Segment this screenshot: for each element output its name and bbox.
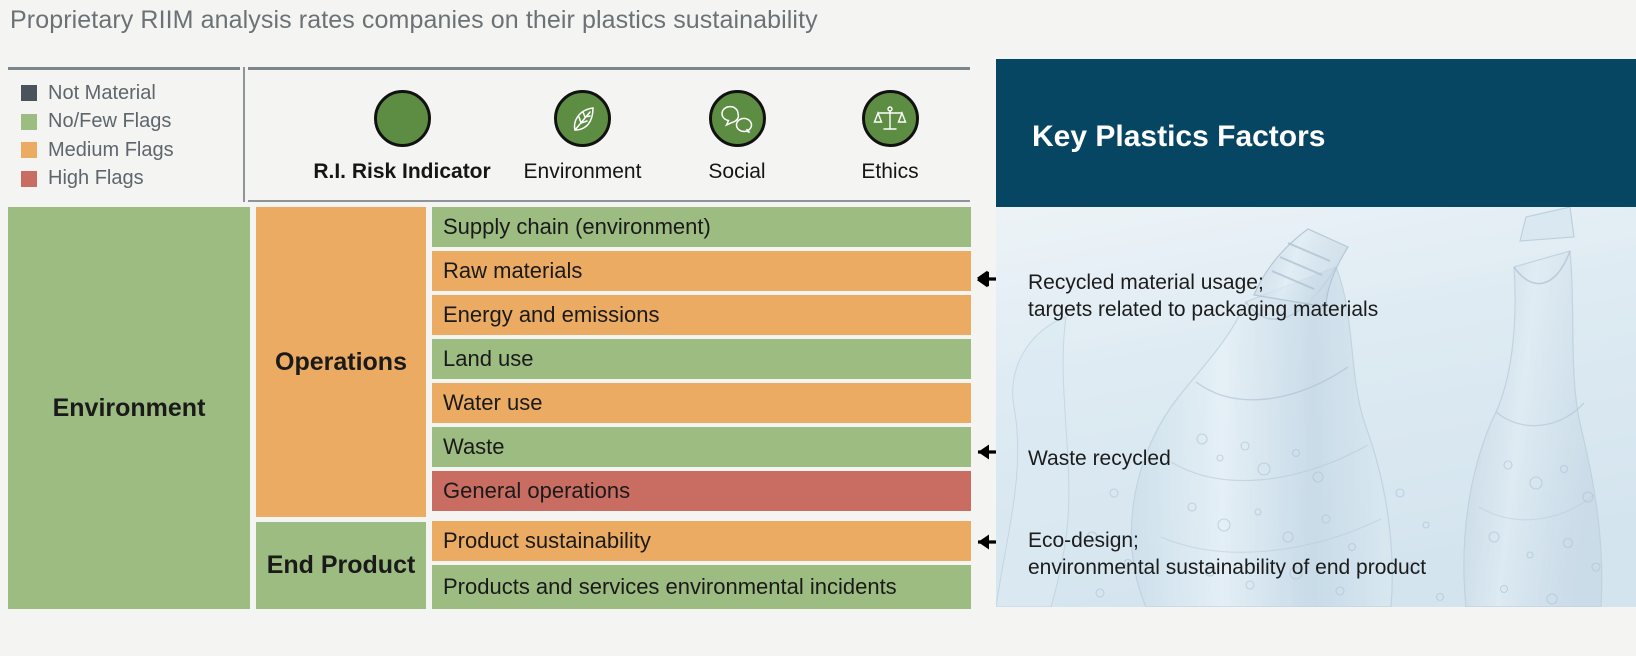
annotation-line: Eco-design; [1028,527,1426,554]
treemap-leaf-waste[interactable]: Waste [432,427,971,467]
treemap-node-label: End Product [256,551,426,580]
key-plastics-header: Key Plastics Factors [996,59,1636,207]
leaf-icon [554,90,611,147]
legend: Not Material No/Few Flags Medium Flags H… [8,67,240,197]
legend-divider [243,67,245,202]
annotation-line: environmental sustainability of end prod… [1028,554,1426,581]
treemap-chart: Environment Operations End Product Suppl… [8,207,971,609]
treemap-leaf-label: Supply chain (environment) [432,214,711,240]
indicator-social: Social [667,70,807,200]
legend-item: Not Material [8,79,240,108]
treemap-node-label: Environment [8,394,250,423]
annotation-line: targets related to packaging materials [1028,296,1378,323]
treemap-node-operations[interactable]: Operations [256,207,426,517]
treemap-leaf-water-use[interactable]: Water use [432,383,971,423]
indicator-caption: Ethics [861,160,918,184]
treemap-leaf-label: Waste [432,434,505,460]
legend-label: No/Few Flags [48,110,171,133]
indicator-icon-strip: R.I. Risk Indicator Environment [248,67,970,202]
legend-item: No/Few Flags [8,108,240,137]
treemap-node-end-product[interactable]: End Product [256,522,426,609]
treemap-leaf-label: General operations [432,478,630,504]
legend-swatch-medium-flags [21,142,37,158]
treemap-leaf-label: Products and services environmental inci… [432,574,897,600]
treemap-leaf-label: Energy and emissions [432,302,659,328]
treemap-leaf-land-use[interactable]: Land use [432,339,971,379]
balance-scales-icon [862,90,919,147]
legend-swatch-not-material [21,85,37,101]
annotation-waste-recycled: Waste recycled [1028,445,1171,472]
annotation-line: Waste recycled [1028,445,1171,472]
indicator-ethics: Ethics [820,70,960,200]
annotation-eco-design: Eco-design; environmental sustainability… [1028,527,1426,581]
indicator-risk-indicator: R.I. Risk Indicator [292,70,512,200]
treemap-leaf-products-services-incidents[interactable]: Products and services environmental inci… [432,565,971,609]
key-plastics-panel: Key Plastics Factors [996,59,1636,607]
indicator-environment: Environment [495,70,670,200]
legend-swatch-no-few-flags [21,114,37,130]
annotation-line: Recycled material usage; [1028,269,1378,296]
key-plastics-body: Recycled material usage; targets related… [996,207,1636,607]
speech-bubbles-icon [709,90,766,147]
filled-circle-icon [374,90,431,147]
legend-label: High Flags [48,167,144,190]
indicator-caption: Social [708,160,765,184]
legend-label: Not Material [48,82,156,105]
treemap-leaf-supply-chain[interactable]: Supply chain (environment) [432,207,971,247]
treemap-leaf-label: Land use [432,346,534,372]
treemap-node-environment[interactable]: Environment [8,207,250,609]
annotation-recycled-material: Recycled material usage; targets related… [1028,269,1378,323]
treemap-node-label: Operations [256,348,426,377]
treemap-leaf-energy-emissions[interactable]: Energy and emissions [432,295,971,335]
indicator-caption: R.I. Risk Indicator [313,160,490,184]
treemap-leaf-product-sustainability[interactable]: Product sustainability [432,521,971,561]
treemap-leaf-label: Raw materials [432,258,582,284]
treemap-leaf-general-operations[interactable]: General operations [432,471,971,511]
treemap-leaf-raw-materials[interactable]: Raw materials [432,251,971,291]
page-title: Proprietary RIIM analysis rates companie… [10,6,818,35]
treemap-leaf-label: Water use [432,390,542,416]
key-plastics-title: Key Plastics Factors [1032,120,1325,154]
legend-item: Medium Flags [8,136,240,165]
treemap-leaf-label: Product sustainability [432,528,651,554]
indicator-caption: Environment [524,160,642,184]
legend-item: High Flags [8,165,240,194]
legend-swatch-high-flags [21,171,37,187]
legend-label: Medium Flags [48,139,174,162]
chart-panel: Not Material No/Few Flags Medium Flags H… [0,62,975,614]
